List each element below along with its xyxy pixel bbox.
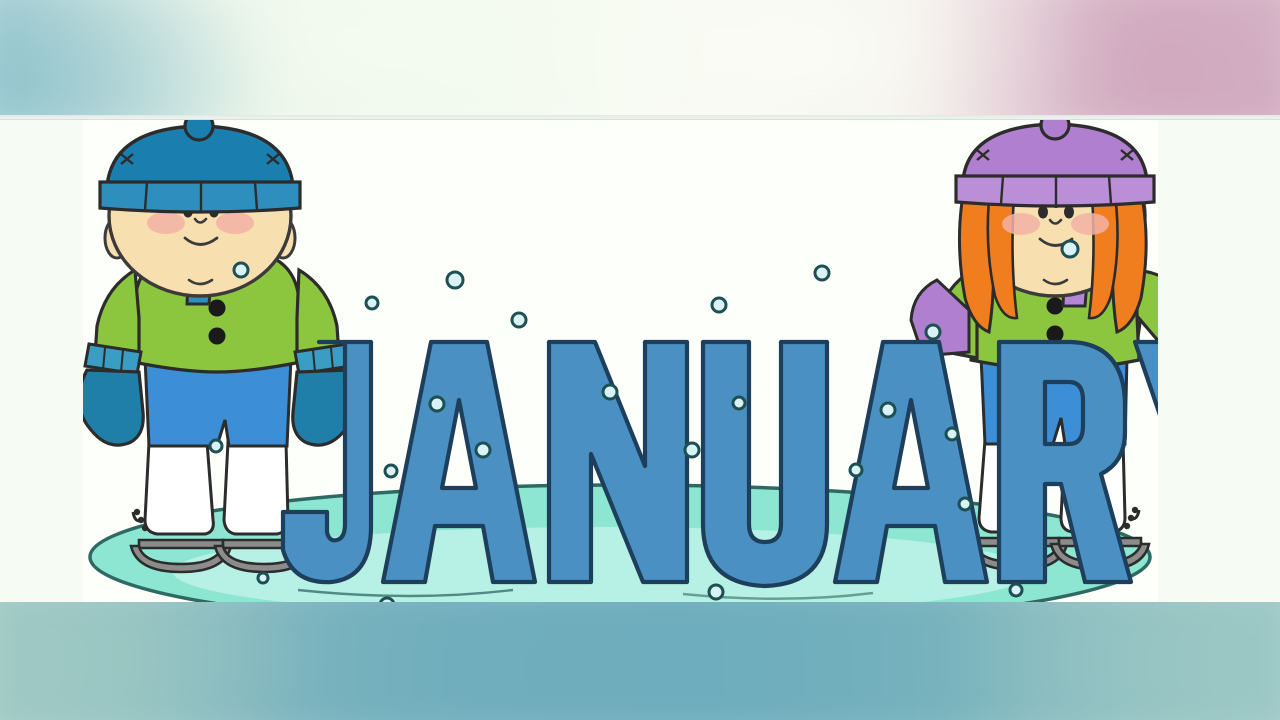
january-title-letters <box>283 342 1158 586</box>
girl-left-cheek <box>1002 213 1040 235</box>
boy-right-boot <box>224 442 288 534</box>
snowflake-dot <box>366 297 378 309</box>
boot-lace-dot <box>138 517 144 523</box>
boy-hat-pompom <box>185 120 213 140</box>
snowflake-dot <box>430 397 444 411</box>
snowflake-dot <box>1062 241 1078 257</box>
snowflake-dot <box>850 464 862 476</box>
screenshot-stage <box>0 0 1280 720</box>
letter-U <box>703 342 827 586</box>
boy-jacket-button <box>209 328 226 345</box>
snowflake-dot <box>258 573 268 583</box>
snowflake-dot <box>385 465 397 477</box>
boy-left-cheek <box>147 212 185 234</box>
girl-hat-pompom <box>1041 120 1069 139</box>
snowflake-dot <box>447 272 463 288</box>
boy-jacket-button <box>209 300 226 317</box>
gradient-fill-bottom <box>0 602 1280 720</box>
boot-lace-dot <box>1128 515 1134 521</box>
girl-jacket-button <box>1047 298 1064 315</box>
snowflake-dot <box>685 443 699 457</box>
document-page <box>0 115 1280 602</box>
boot-lace-dot <box>1132 507 1138 513</box>
snowflake-dot <box>476 443 490 457</box>
boy-left-boot <box>145 442 213 534</box>
boy-left-mitten <box>83 370 143 445</box>
snowflake-dot <box>815 266 829 280</box>
boot-lace-dot <box>1124 523 1130 529</box>
boot-lace-dot <box>142 525 148 531</box>
snowflake-dot <box>881 403 895 417</box>
snowflake-dot <box>712 298 726 312</box>
boot-lace-dot <box>134 509 140 515</box>
snowflake-dot <box>210 440 222 452</box>
girl-right-cheek <box>1071 213 1109 235</box>
snowflake-dot <box>733 397 745 409</box>
snowflake-dot <box>1010 584 1022 596</box>
snowflake-dot <box>234 263 248 277</box>
january-clipart-image <box>83 120 1158 602</box>
snowflake-dot <box>512 313 526 327</box>
boy-right-cheek <box>216 212 254 234</box>
snowflake-dot <box>603 385 617 399</box>
snowflake-dot <box>959 498 971 510</box>
snowflake-dot <box>709 585 723 599</box>
blurred-gradient-band-bottom <box>0 602 1280 720</box>
clipart-svg <box>83 120 1158 602</box>
gradient-fill-top <box>0 0 1280 115</box>
snowflake-dot <box>926 325 940 339</box>
boy-left-blade-plate <box>139 540 223 548</box>
blurred-gradient-band-top <box>0 0 1280 115</box>
snowflake-dot <box>946 428 958 440</box>
